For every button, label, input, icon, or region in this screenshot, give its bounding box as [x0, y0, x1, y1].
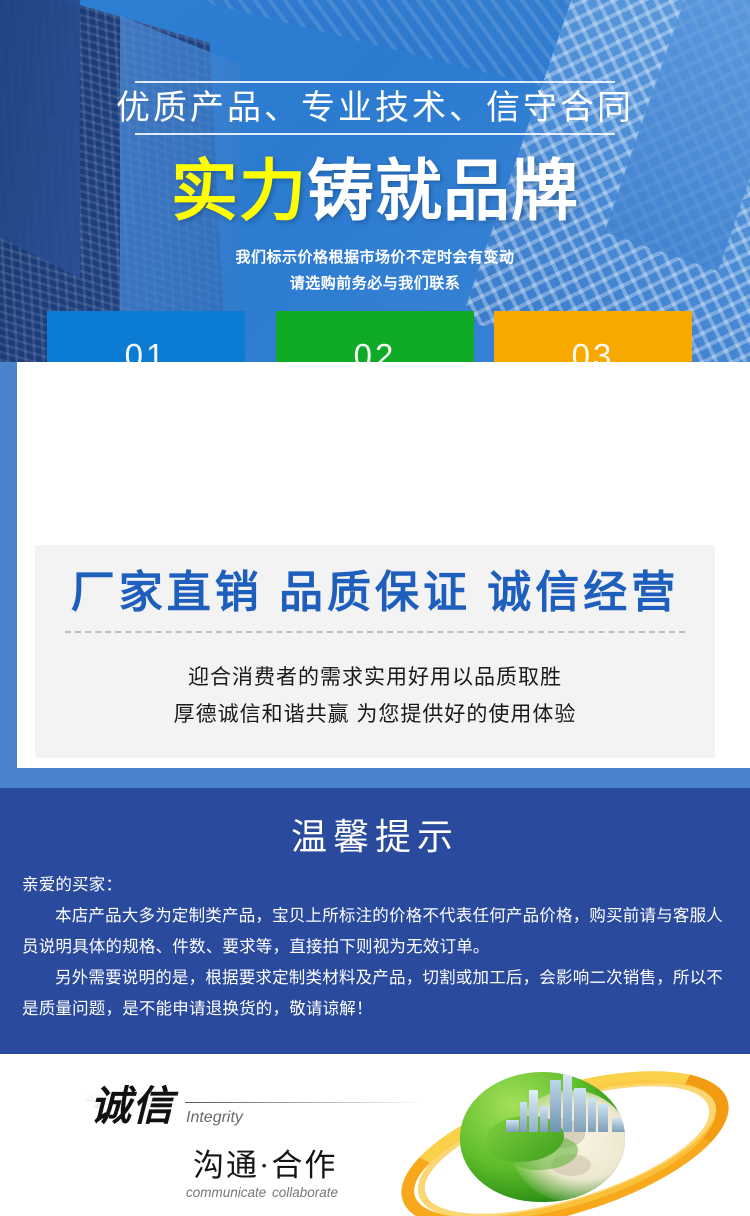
- hero-headline: 优质产品、专业技术、信守合同: [0, 86, 750, 130]
- footer-collaboration-cn: 沟通·合作: [193, 1140, 337, 1185]
- slogan-main-text: 厂家直销 品质保证 诚信经营: [35, 565, 715, 621]
- globe-graphic: [400, 1054, 750, 1216]
- hero-subtitle-line-1: 我们标示价格根据市场价不定时会有变动: [0, 246, 750, 267]
- headline-rule-top: [135, 81, 615, 83]
- slogan-sub-line-1: 迎合消费者的需求实用好用以品质取胜: [35, 661, 715, 691]
- notice-paragraph-1: 本店产品大多为定制类产品，宝贝上所标注的价格不代表任何产品价格，购买前请与客服人…: [22, 901, 728, 963]
- slogan-sub-line-2: 厚德诚信和谐共赢 为您提供好的使用体验: [35, 698, 715, 728]
- notice-body: 亲爱的买家： 本店产品大多为定制类产品，宝贝上所标注的价格不代表任何产品价格，购…: [22, 870, 728, 1025]
- hero-subtitle-line-2: 请选购前务必与我们联系: [0, 272, 750, 293]
- notice-section: 温馨提示 亲爱的买家： 本店产品大多为定制类产品，宝贝上所标注的价格不代表任何产…: [0, 788, 750, 1054]
- slogan-panel: 厂家直销 品质保证 诚信经营 迎合消费者的需求实用好用以品质取胜 厚德诚信和谐共…: [35, 545, 715, 758]
- notice-title: 温馨提示: [0, 808, 750, 860]
- hero-main-title: 实力铸就品牌: [0, 152, 750, 232]
- footer-integrity-cn: 诚信: [90, 1072, 174, 1132]
- hero-banner: 优质产品、专业技术、信守合同 实力铸就品牌 我们标示价格根据市场价不定时会有变动…: [0, 0, 750, 362]
- headline-rule-bottom: [135, 133, 615, 135]
- hero-title-rest: 铸就品牌: [307, 154, 579, 229]
- footer-integrity-en: Integrity: [186, 1109, 243, 1127]
- hero-title-highlight: 实力: [171, 154, 307, 229]
- left-blue-edge-strip: [0, 362, 17, 768]
- green-globe-icon: [460, 1072, 625, 1202]
- blue-divider-strip: [0, 768, 750, 788]
- footer-collaborate-en: collaborate: [272, 1185, 338, 1200]
- notice-greeting: 亲爱的买家：: [22, 870, 728, 901]
- slogan-dashed-divider: [65, 631, 685, 633]
- footer-banner: 诚信 诚信 Integrity 沟通·合作 communicate collab…: [0, 1054, 750, 1216]
- footer-divider-line: [185, 1102, 425, 1103]
- footer-communicate-en: communicate: [186, 1185, 266, 1200]
- city-skyline-icon: [518, 1072, 625, 1132]
- notice-paragraph-2: 另外需要说明的是，根据要求定制类材料及产品，切割或加工后，会影响二次销售，所以不…: [22, 963, 728, 1025]
